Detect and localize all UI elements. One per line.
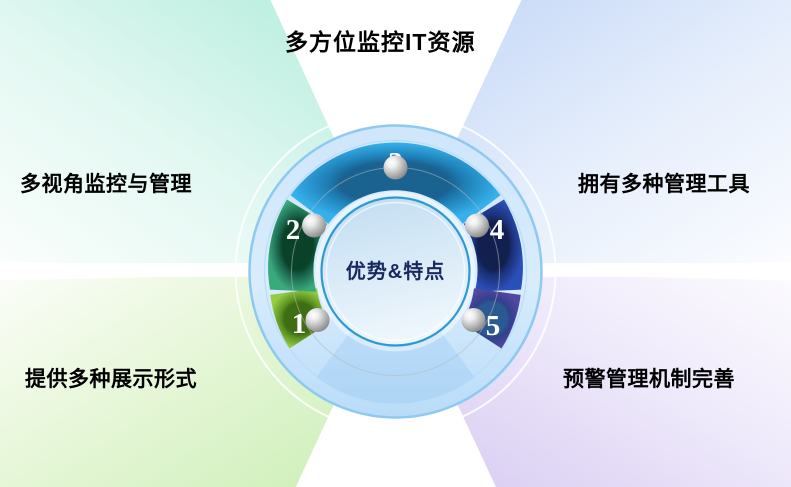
label-left-top: 多视角监控与管理 [20, 168, 192, 198]
sphere-marker-2 [302, 214, 326, 238]
sphere-marker-1 [306, 308, 330, 332]
slide-canvas: 优势&特点 1 2 3 4 5 多方位监控IT资源 多视角监控与管理 提供多种展… [0, 0, 791, 487]
segment-number-2: 2 [286, 214, 301, 246]
radial-diagram: 优势&特点 1 2 3 4 5 [229, 105, 562, 438]
sphere-marker-4 [465, 214, 489, 238]
label-left-bottom: 提供多种展示形式 [25, 363, 197, 393]
label-right-bottom: 预警管理机制完善 [563, 363, 735, 393]
label-right-top: 拥有多种管理工具 [578, 168, 750, 198]
segment-number-1: 1 [292, 308, 307, 340]
segment-number-4: 4 [490, 214, 505, 246]
centre-label: 优势&特点 [346, 259, 445, 283]
sphere-marker-3 [384, 156, 408, 180]
segment-number-5: 5 [486, 310, 501, 342]
label-top: 多方位监控IT资源 [285, 23, 475, 57]
sphere-marker-5 [462, 308, 486, 332]
